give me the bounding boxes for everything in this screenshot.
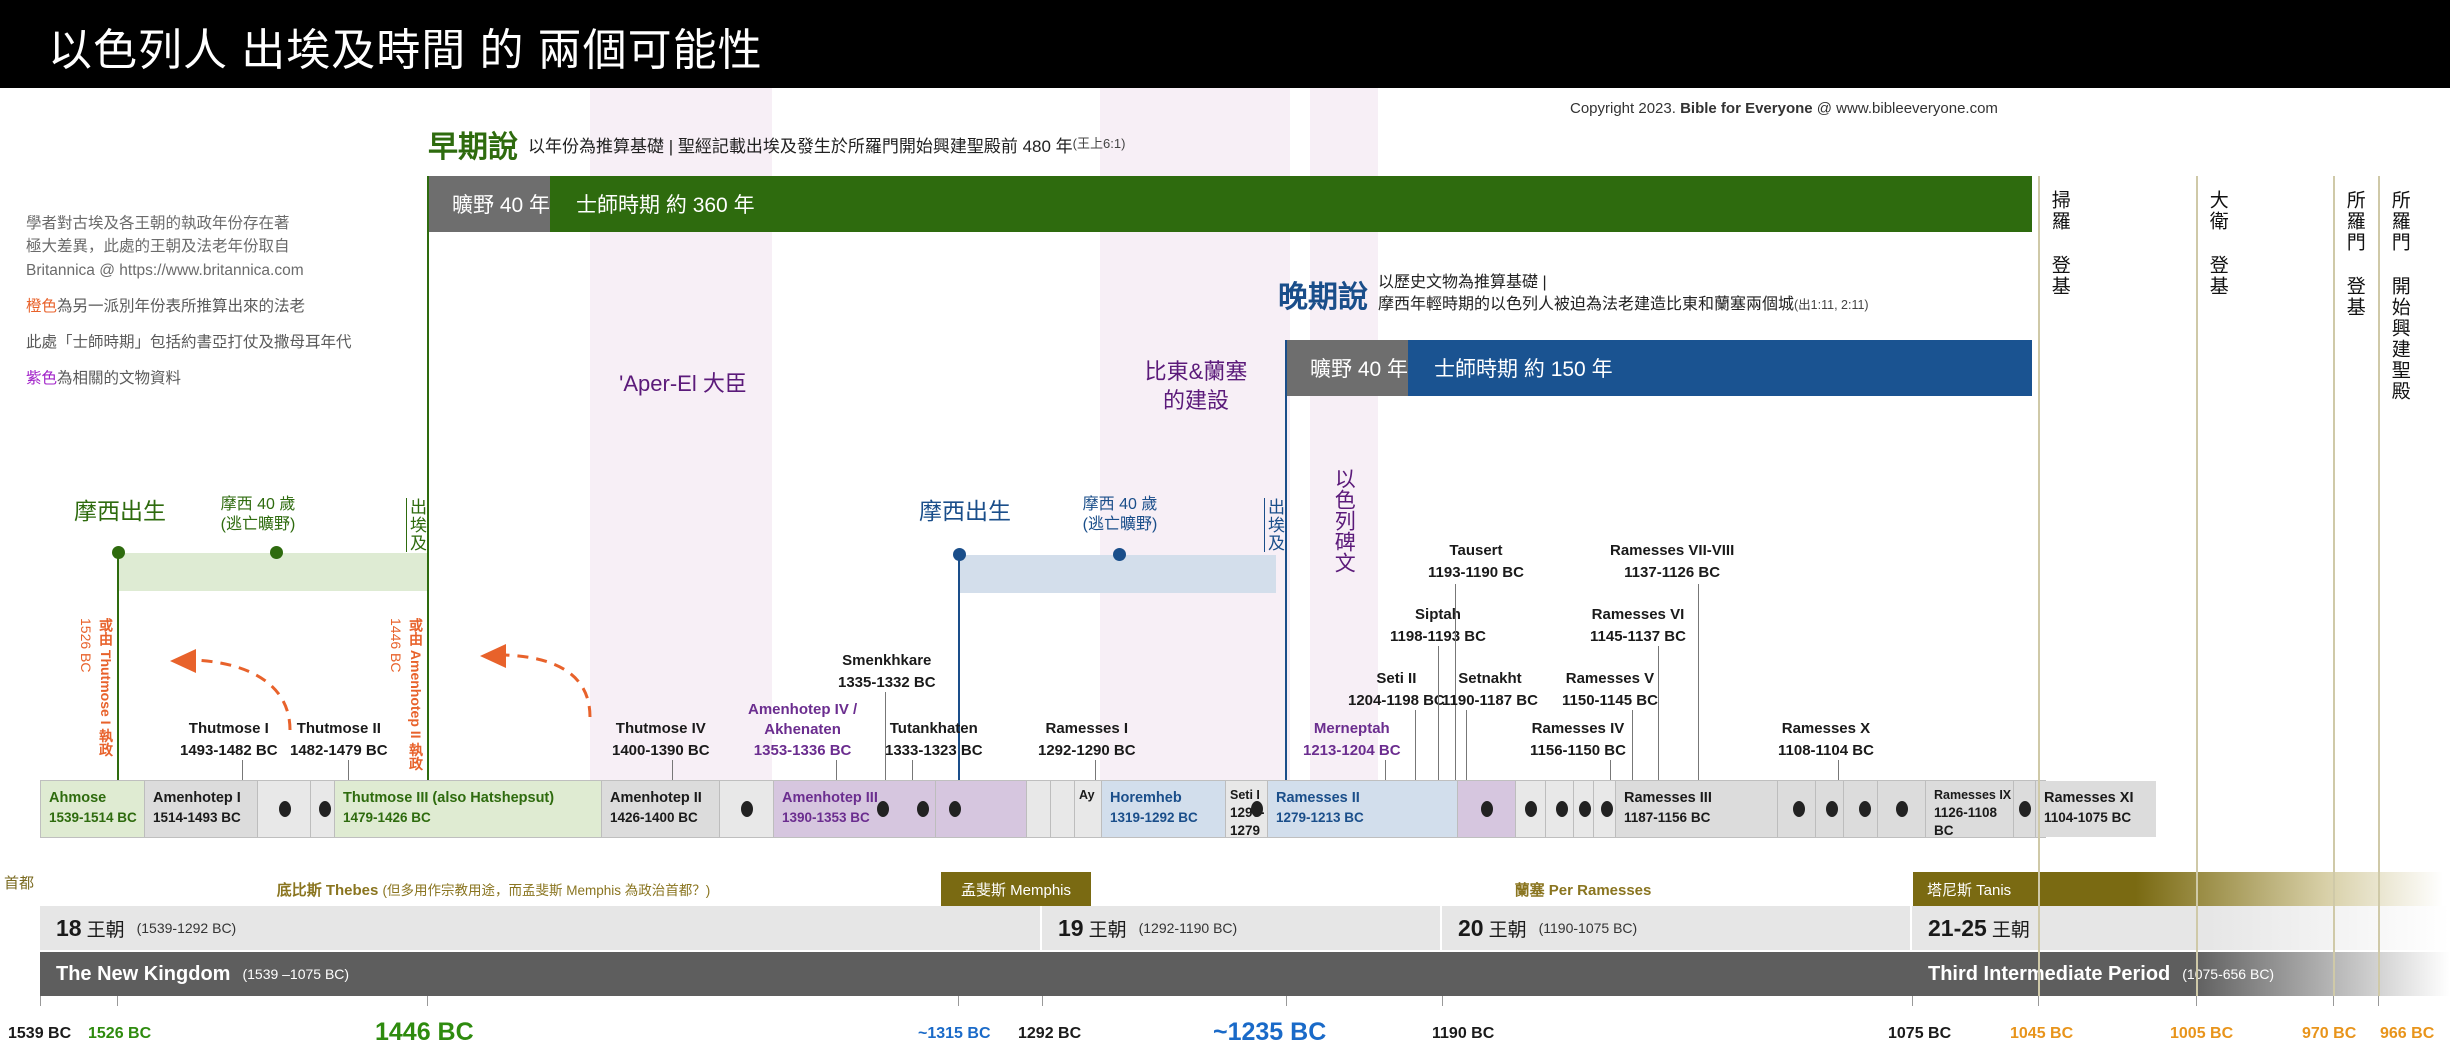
callout-akhenaten: Amenhotep IV / Akhenaten 1353-1336 BC [748,700,857,761]
orange-note-1: 1526 BC [78,618,94,672]
pharaoh-cell-ramesses-ix-name: Ramesses IX [1934,787,2013,804]
callout-siptah-name: Siptah [1415,606,1461,623]
copyright-brand: Bible for Everyone [1680,100,1813,117]
late-wilderness-segment: 曠野 40 年 [1286,340,1408,396]
callout-ramesses-i-years: 1292-1290 BC [1038,742,1136,759]
callout-smenkhkare-years: 1335-1332 BC [838,674,936,691]
reign-dot [1826,801,1838,817]
leader-ramesses-iv [1610,760,1611,782]
dynasty-19: 19 王朝 (1292-1190 BC) [1042,906,1442,950]
capital-per-ramesses-name: 蘭塞 Per Ramesses [1515,879,1652,900]
pharaoh-cell-ramesses-iii-name: Ramesses III [1624,789,1777,809]
pharaoh-cell-ramesses-iii[interactable]: Ramesses III 1187-1156 BC [1616,781,1778,837]
callout-ramesses-x: Ramesses X 1108-1104 BC [1778,718,1874,762]
callout-tutankhaten: Tutankhaten 1333-1323 BC [885,718,983,762]
pharaoh-cell-thutmose-iii-name: Thutmose III (also Hatshepsut) [343,789,601,809]
exodus-early-label: 出埃及 [404,498,429,552]
callout-ramesses-v-years: 1150-1145 BC [1562,692,1658,709]
exodus-late-line [1285,340,1287,780]
callout-thutmose-iv-name: Thutmose IV [616,720,706,737]
axis-label-1190bc: 1190 BC [1432,1025,1494,1043]
legend-purple-entry: 紫色為相關的文物資料 [26,367,426,390]
legend-purple-rest: 為相關的文物資料 [57,370,181,387]
late-judges-segment: 士師時期 約 150 年 [1408,340,2032,396]
pharaoh-cell-ramesses-ix-years: 1126-1108 BC [1934,804,2013,837]
axis-tick [1442,996,1443,1006]
early-theory-bar: 曠野 40 年 士師時期 約 360 年 [428,176,2032,232]
milestone-line-saul [2038,176,2040,996]
pharaoh-cell-horemheb-years: 1319-1292 BC [1110,809,1225,827]
legend-spacer-2 [26,318,426,331]
kingdom-new-years: (1539 –1075 BC) [242,966,349,982]
pharaoh-cell-ramesses-ii-name: Ramesses II [1276,789,1457,809]
late-theory-desc: 以歷史文物為推算基礎 |摩西年輕時期的以色列人被迫為法老建造比東和蘭塞兩個城(出… [1378,272,1869,315]
callout-thutmose-iv-years: 1400-1390 BC [612,742,710,759]
legend-purple-word: 紫色 [26,370,57,387]
callout-seti-ii-years: 1204-1198 BC [1348,692,1445,709]
callout-ramesses-vii-viii: Ramesses VII-VIII 1137-1126 BC [1610,540,1734,584]
copyright-post: @ www.bibleeveryone.com [1813,100,1998,117]
callout-ramesses-i: Ramesses I 1292-1290 BC [1038,718,1136,762]
early-wilderness-segment: 曠野 40 年 [428,176,550,232]
moses-late-age40-label: 摩西 40 歲 (逃亡曠野) [1040,495,1200,535]
legend-orange-word: 橙色 [26,298,57,315]
orange-note-1-year: 1526 BC [78,618,94,672]
callout-thutmose-ii-name: Thutmose II [297,720,381,737]
reign-dot [1579,801,1591,817]
late-theory-title: 晚期說 [1278,272,1368,316]
moses-late-birth-label: 摩西出生 [880,497,1050,526]
callout-merneptah: Merneptah 1213-1204 BC [1303,718,1401,762]
pharaoh-cell-ramesses-ix[interactable]: Ramesses IX 1126-1108 BC [1926,781,2014,837]
pharaoh-cell-ahmose-name: Ahmose [49,789,144,809]
legend-spacer-1 [26,282,426,295]
early-theory-header: 早期說以年份為推算基礎 | 聖經記載出埃及發生於所羅門開始興建聖殿前 480 年… [428,122,1125,166]
pharaoh-cell-amenhotep-i-name: Amenhotep I [153,789,257,809]
callout-ramesses-iv-name: Ramesses IV [1532,720,1625,737]
leader-thutmose-iv [672,760,673,782]
axis-tick [2333,996,2334,1006]
artifact-aper-el: 'Aper-El 大臣 [590,370,776,399]
axis-tick [1912,996,1913,1006]
reign-dot [1896,801,1908,817]
axis-label-1446bc: 1446 BC [375,1018,474,1047]
late-theory-desc-line2: 摩西年輕時期的以色列人被迫為法老建造比東和蘭塞兩個城 [1378,296,1794,313]
dynasty-19-word: 王朝 [1089,915,1127,942]
reign-dot [949,801,961,817]
pharaoh-cell-horemheb-name: Horemheb [1110,789,1225,809]
pharaoh-cell-ay[interactable]: Ay [1075,781,1102,837]
legend-orange-entry: 橙色為另一派別年份表所推算出來的法老 [26,295,426,318]
callout-ramesses-v-name: Ramesses V [1566,670,1654,687]
pharaoh-cell-amenhotep-ii-years: 1426-1400 BC [610,809,719,827]
kingdom-new-name: The New Kingdom [56,963,230,986]
axis-label-1235bc: ~1235 BC [1213,1018,1326,1047]
pharaoh-cell-thutmose-iii-years: 1479-1426 BC [343,809,601,827]
axis-label-1526bc: 1526 BC [88,1025,151,1043]
moses-early-age40-line1: 摩西 40 歲 [221,496,296,513]
legend-line-2: 極大差異，此處的王朝及法老年份取自 [26,235,426,258]
reign-dot [1556,801,1568,817]
pharaoh-cell-seti-i-name: Seti I [1230,787,1267,804]
moses-early-age40-dot [270,546,283,559]
callout-ramesses-i-name: Ramesses I [1046,720,1129,737]
callout-seti-ii-name: Seti II [1376,670,1416,687]
pharaoh-cell-ramesses-xi-years: 1104-1075 BC [2044,809,2156,827]
exodus-late-label: 出埃及 [1262,498,1287,552]
axis-tick [1286,996,1287,1006]
dynasty-20-years: (1190-1075 BC) [1539,920,1638,936]
leader-ramesses-x [1838,760,1839,782]
milestone-line-temple [2378,176,2380,996]
dynasty-18-years: (1539-1292 BC) [137,920,237,936]
leader-tutankhaten [912,760,913,782]
late-theory-desc-line1: 以歷史文物為推算基礎 | [1378,274,1547,291]
moses-early-age40-label: 摩西 40 歲 (逃亡曠野) [178,495,338,535]
early-theory-desc: 以年份為推算基礎 | 聖經記載出埃及發生於所羅門開始興建聖殿前 480 年 [528,137,1073,156]
dynasty-21-25-word: 王朝 [1992,915,2030,942]
capital-tanis: 塔尼斯 Tanis [1913,872,2443,906]
kingdom-new: The New Kingdom (1539 –1075 BC) [40,952,1912,996]
leader-thutmose-ii [348,760,349,782]
pharaoh-cell-ahmose[interactable]: Ahmose 1539-1514 BC [41,781,145,837]
reign-dot [877,801,889,817]
callout-setnakht: Setnakht 1190-1187 BC [1442,668,1538,712]
reign-dot [1601,801,1613,817]
leader-ramesses-vi [1658,646,1659,782]
legend-line-3: Britannica @ https://www.britannica.com [26,259,426,282]
capital-thebes-name: 底比斯 Thebes [277,879,379,900]
callout-ramesses-vi: Ramesses VI 1145-1137 BC [1590,604,1686,648]
callout-ramesses-vi-years: 1145-1137 BC [1590,628,1686,645]
callout-ramesses-iv-years: 1156-1150 BC [1530,742,1626,759]
reign-dot [279,801,291,817]
reign-dot [1859,801,1871,817]
milestone-label-saul: 掃羅 登基 [2046,190,2071,340]
axis-tick [2038,996,2039,1006]
page-title: 以色列人 出埃及時間 的 兩個可能性 [48,14,763,78]
axis-label-1005bc: 1005 BC [2170,1025,2233,1043]
milestone-label-temple: 所羅門 開始興建聖殿 [2386,190,2411,490]
callout-seti-ii: Seti II 1204-1198 BC [1348,668,1445,712]
callout-smenkhkare: Smenkhkare 1335-1332 BC [838,650,936,694]
callout-setnakht-years: 1190-1187 BC [1442,692,1538,709]
pharaoh-cell-horemheb[interactable]: Horemheb 1319-1292 BC [1102,781,1226,837]
dynasty-18-num: 18 [56,915,82,942]
pharaoh-band: Ahmose 1539-1514 BC Amenhotep I 1514-149… [40,780,2046,838]
moses-late-age40-line2: (逃亡曠野) [1083,516,1158,533]
leader-setnakht [1466,710,1467,782]
axis-label-970bc: 970 BC [2302,1025,2356,1043]
early-judges-segment: 士師時期 約 360 年 [550,176,2032,232]
callout-thutmose-ii: Thutmose II 1482-1479 BC [290,718,388,762]
copyright-notice: Copyright 2023. Bible for Everyone @ www… [1570,100,1998,117]
axis-label-1539bc: 1539 BC [8,1025,71,1043]
legend-spacer-3 [26,354,426,367]
axis-tick [117,996,118,1006]
legend-block: 學者對古埃及各王朝的執政年份存在著 極大差異，此處的王朝及法老年份取自 Brit… [26,212,426,391]
leader-merneptah [1385,760,1386,782]
axis-tick [427,996,428,1006]
callout-siptah: Siptah 1198-1193 BC [1390,604,1486,648]
moses-late-age40-line1: 摩西 40 歲 [1083,496,1158,513]
callout-thutmose-iv: Thutmose IV 1400-1390 BC [612,718,710,762]
leader-seti-ii [1415,710,1416,782]
capital-memphis: 孟斐斯 Memphis [941,872,1091,906]
legend-orange-rest: 為另一派別年份表所推算出來的法老 [57,298,305,315]
callout-ramesses-vii-viii-years: 1137-1126 BC [1624,564,1720,581]
callout-merneptah-years: 1213-1204 BC [1303,742,1401,759]
early-theory-ref: (王上6:1) [1073,136,1126,151]
pharaoh-cell-amenhotep-iii-name: Amenhotep III [782,789,935,809]
late-theory-ref: (出1:11, 2:11) [1794,298,1869,312]
callout-tausert-years: 1193-1190 BC [1428,564,1524,581]
leader-siptah [1438,646,1439,782]
milestone-line-solomon-enthrone [2333,176,2335,996]
axis-label-1045bc: 1045 BC [2010,1025,2073,1043]
callout-setnakht-name: Setnakht [1458,670,1521,687]
pharaoh-cell-amenhotep-iii[interactable]: Amenhotep III 1390-1353 BC [774,781,936,837]
axis-label-966bc: 966 BC [2380,1025,2434,1043]
callout-ramesses-vii-viii-name: Ramesses VII-VIII [1610,542,1734,559]
artifact-israel-stele: 以色列碑文 [1330,430,1356,610]
callout-siptah-years: 1198-1193 BC [1390,628,1486,645]
orange-note-2-year: 1446 BC [388,618,404,672]
copyright-pre: Copyright 2023. [1570,100,1680,117]
pharaoh-cell-amenhotep-i[interactable]: Amenhotep I 1514-1493 BC [145,781,258,837]
capital-tanis-name: 塔尼斯 Tanis [1927,879,2011,900]
reign-dot [2019,801,2031,817]
milestone-label-solomon-enthrone: 所羅門 登基 [2341,190,2366,370]
pharaoh-cell-amenhotep-ii[interactable]: Amenhotep II 1426-1400 BC [602,781,720,837]
pharaoh-cell-thutmose-iii[interactable]: Thutmose III (also Hatshepsut) 1479-1426… [335,781,602,837]
milestone-label-david: 大衛 登基 [2204,190,2229,340]
reign-dot [319,801,331,817]
leader-ramesses-vii-viii [1698,584,1699,782]
dynasty-18: 18 王朝 (1539-1292 BC) [40,906,1042,950]
axis-tick [40,996,41,1006]
dynasty-21-25: 21-25 王朝 [1912,906,2450,950]
axis-tick [2196,996,2197,1006]
reign-dot [917,801,929,817]
pharaoh-cell-gap-5 [1027,781,1051,837]
pharaoh-cell-ay-name: Ay [1079,787,1101,804]
reign-dot [741,801,753,817]
leader-akhenaten [836,760,837,782]
axis-tick [1042,996,1043,1006]
moses-early-age40-line2: (逃亡曠野) [221,516,296,533]
legend-line-1: 學者對古埃及各王朝的執政年份存在著 [26,212,426,235]
axis-tick [958,996,959,1006]
dynasty-20: 20 王朝 (1190-1075 BC) [1442,906,1912,950]
pharaoh-cell-amenhotep-i-years: 1514-1493 BC [153,809,257,827]
reign-dot [1481,801,1493,817]
moses-late-age40-dot [1113,548,1126,561]
pharaoh-cell-amenhotep-ii-name: Amenhotep II [610,789,719,809]
pharaoh-cell-ahmose-years: 1539-1514 BC [49,809,144,827]
dynasty-21-25-num: 21-25 [1928,915,1987,942]
title-bar: 以色列人 出埃及時間 的 兩個可能性 [0,0,2450,88]
dynasty-20-word: 王朝 [1489,915,1527,942]
callout-tutankhaten-name: Tutankhaten [890,720,978,737]
pharaoh-cell-ramesses-iii-years: 1187-1156 BC [1624,809,1777,827]
pharaoh-cell-amenhotep-iii-years: 1390-1353 BC [782,809,935,827]
reign-dot [1793,801,1805,817]
kingdom-third-name: Third Intermediate Period [1928,963,2170,986]
legend-judges-note: 此處「士師時期」包括約書亞打仗及撒母耳年代 [26,331,426,354]
axis-label-1315bc: ~1315 BC [918,1025,991,1043]
pharaoh-cell-gap-6 [1051,781,1075,837]
orange-arrow-1 [100,615,350,735]
callout-ramesses-vi-name: Ramesses VI [1592,606,1685,623]
late-theory-header: 晚期說以歷史文物為推算基礎 |摩西年輕時期的以色列人被迫為法老建造比東和蘭塞兩個… [1278,272,1869,316]
callout-tutankhaten-years: 1333-1323 BC [885,742,983,759]
callout-thutmose-i-years: 1493-1482 BC [180,742,278,759]
axis-tick [2378,996,2379,1006]
moses-early-shade [118,553,428,591]
pharaoh-cell-ramesses-xi-name: Ramesses XI [2044,789,2156,809]
artifact-pithom-rameses: 比東&蘭塞 的建設 [1100,358,1292,415]
axis-label-1075bc: 1075 BC [1888,1025,1951,1043]
early-theory-title: 早期說 [428,131,518,164]
reign-dot [1251,801,1263,817]
capital-per-ramesses: 蘭塞 Per Ramesses [1253,872,1913,906]
axis-label-1292bc: 1292 BC [1018,1025,1081,1043]
pharaoh-cell-ramesses-ii[interactable]: Ramesses II 1279-1213 BC [1268,781,1458,837]
reign-dot [1525,801,1537,817]
kingdom-third-intermediate: Third Intermediate Period (1075-656 BC) [1912,952,2450,996]
pharaoh-cell-ramesses-xi[interactable]: Ramesses XI 1104-1075 BC [2036,781,2156,837]
callout-ramesses-v: Ramesses V 1150-1145 BC [1562,668,1658,712]
milestone-line-david [2196,176,2198,996]
callout-thutmose-i-name: Thutmose I [189,720,269,737]
dynasty-19-num: 19 [1058,915,1084,942]
dynasty-20-num: 20 [1458,915,1484,942]
orange-arrow-2 [420,612,670,722]
callout-akhenaten-name: Amenhotep IV / Akhenaten [748,701,857,738]
callout-merneptah-name: Merneptah [1314,720,1390,737]
capital-memphis-name: 孟斐斯 Memphis [961,879,1071,900]
callout-ramesses-x-name: Ramesses X [1782,720,1870,737]
callout-thutmose-i: Thutmose I 1493-1482 BC [180,718,278,762]
callout-ramesses-x-years: 1108-1104 BC [1778,742,1874,759]
leader-ramesses-i [1095,760,1096,782]
capital-thebes: 底比斯 Thebes (但多用作宗教用途，而孟斐斯 Memphis 為政治首都？… [46,872,941,906]
orange-note-2: 1446 BC [388,618,404,672]
callout-akhenaten-years: 1353-1336 BC [754,742,852,759]
capital-thebes-note: (但多用作宗教用途，而孟斐斯 Memphis 為政治首都？) [383,879,711,899]
callout-thutmose-ii-years: 1482-1479 BC [290,742,388,759]
pharaoh-cell-ramesses-ii-years: 1279-1213 BC [1276,809,1457,827]
dynasty-18-word: 王朝 [87,915,125,942]
callout-smenkhkare-name: Smenkhkare [842,652,931,669]
callout-ramesses-iv: Ramesses IV 1156-1150 BC [1530,718,1626,762]
capital-row-label: 首都 [4,872,34,893]
leader-ramesses-v [1632,710,1633,782]
dynasty-19-years: (1292-1190 BC) [1139,920,1238,936]
late-theory-bar: 曠野 40 年 士師時期 約 150 年 [1286,340,2032,396]
leader-thutmose-i [242,760,243,782]
callout-tausert: Tausert 1193-1190 BC [1428,540,1524,584]
callout-tausert-name: Tausert [1449,542,1502,559]
